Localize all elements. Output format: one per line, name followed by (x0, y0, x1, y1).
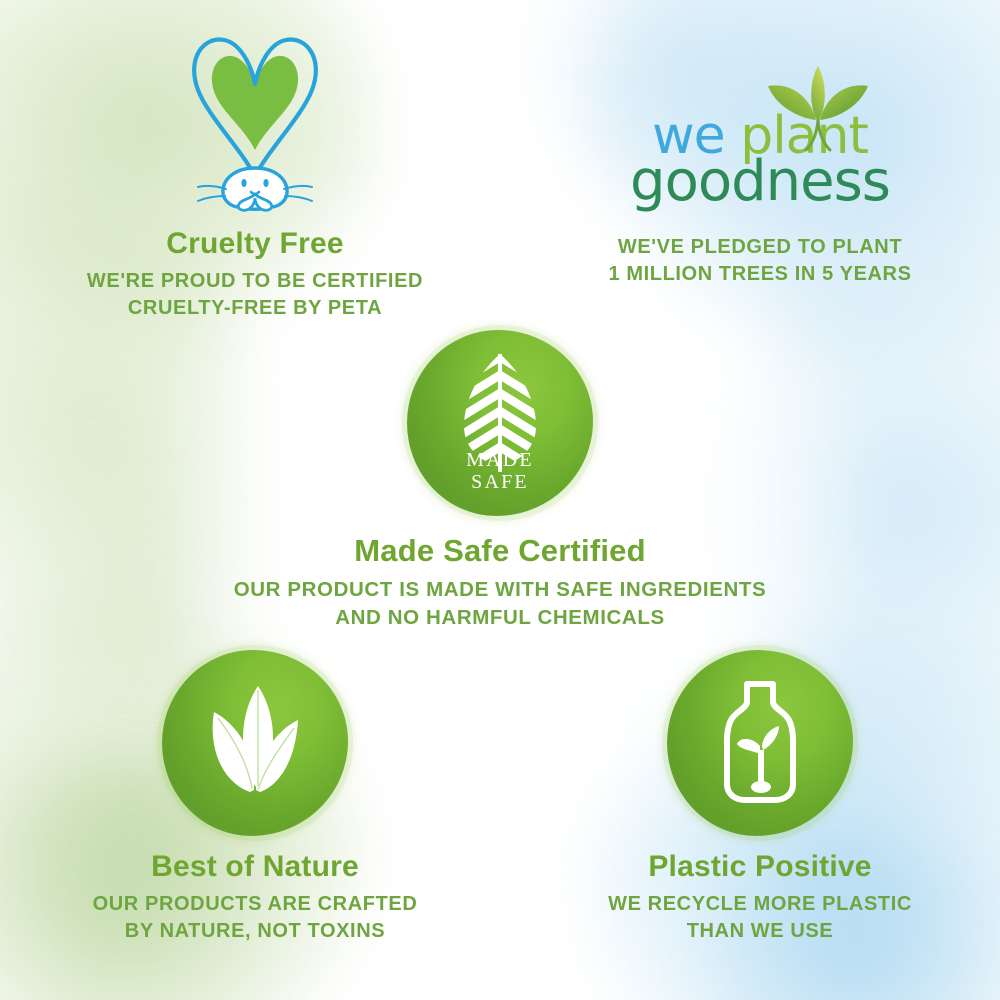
sprout-icon (758, 60, 878, 156)
bunny-eye-left (241, 179, 246, 187)
we-plant-goodness-description: WE'VE PLEDGED TO PLANT 1 MILLION TREES I… (540, 234, 980, 288)
we-plant-goodness-logo: we plant goodness (600, 88, 920, 218)
plastic-positive-badge (667, 650, 853, 836)
plastic-positive-desc-line-2: THAN WE USE (540, 918, 980, 945)
made-safe-badge-line-1: MADE (407, 450, 593, 470)
section-made-safe: MADE SAFE Made Safe Certified OUR PRODUC… (190, 330, 810, 631)
section-we-plant-goodness: we plant goodness WE'VE PLEDGED TO PLANT… (540, 88, 980, 288)
bunny-heart-icon (160, 28, 350, 213)
section-cruelty-free: Cruelty Free WE'RE PROUD TO BE CERTIFIED… (30, 28, 480, 322)
cruelty-free-desc-line-2: CRUELTY-FREE BY PETA (30, 295, 480, 322)
three-leaves-shapes (213, 686, 298, 792)
made-safe-title: Made Safe Certified (190, 534, 810, 568)
bottle-sprout-plant (737, 726, 779, 793)
section-plastic-positive: Plastic Positive WE RECYCLE MORE PLASTIC… (540, 650, 980, 945)
made-safe-desc-line-1: OUR PRODUCT IS MADE WITH SAFE INGREDIENT… (190, 576, 810, 604)
best-of-nature-icon-wrap (30, 650, 480, 836)
made-safe-desc-line-2: AND NO HARMFUL CHEMICALS (190, 604, 810, 632)
sprout-stem (806, 120, 818, 150)
cruelty-free-title: Cruelty Free (30, 227, 480, 260)
cruelty-free-icon-wrap (30, 28, 480, 213)
we-plant-goodness-desc-line-2: 1 MILLION TREES IN 5 YEARS (540, 261, 980, 288)
logo-line-2: goodness (600, 154, 920, 210)
best-of-nature-title: Best of Nature (30, 850, 480, 883)
plastic-positive-icon-wrap (540, 650, 980, 836)
logo-word-goodness: goodness (630, 149, 890, 214)
made-safe-description: OUR PRODUCT IS MADE WITH SAFE INGREDIENT… (190, 576, 810, 631)
best-of-nature-badge (162, 650, 348, 836)
best-of-nature-desc-line-2: BY NATURE, NOT TOXINS (30, 918, 480, 945)
plastic-positive-title: Plastic Positive (540, 850, 980, 883)
plastic-positive-desc-line-1: WE RECYCLE MORE PLASTIC (540, 891, 980, 918)
section-best-of-nature: Best of Nature OUR PRODUCTS ARE CRAFTED … (30, 650, 480, 945)
best-of-nature-desc-line-1: OUR PRODUCTS ARE CRAFTED (30, 891, 480, 918)
cruelty-free-description: WE'RE PROUD TO BE CERTIFIED CRUELTY-FREE… (30, 268, 480, 322)
made-safe-badge-line-2: SAFE (407, 472, 593, 492)
made-safe-icon-wrap: MADE SAFE (190, 330, 810, 516)
bunny-eye-right (263, 179, 268, 187)
sprout-root (818, 120, 830, 150)
bottle-sprout-icon (667, 650, 853, 836)
made-safe-badge: MADE SAFE (407, 330, 593, 516)
three-leaves-icon (162, 650, 348, 836)
sprout-leaf-left (768, 85, 816, 120)
cruelty-free-desc-line-1: WE'RE PROUD TO BE CERTIFIED (30, 268, 480, 295)
made-safe-badge-text: MADE SAFE (407, 450, 593, 492)
we-plant-goodness-desc-line-1: WE'VE PLEDGED TO PLANT (540, 234, 980, 261)
sprout-leaf-right (820, 85, 868, 120)
plastic-positive-description: WE RECYCLE MORE PLASTIC THAN WE USE (540, 891, 980, 945)
best-of-nature-description: OUR PRODUCTS ARE CRAFTED BY NATURE, NOT … (30, 891, 480, 945)
brand-values-infographic: Cruelty Free WE'RE PROUD TO BE CERTIFIED… (0, 0, 1000, 1000)
